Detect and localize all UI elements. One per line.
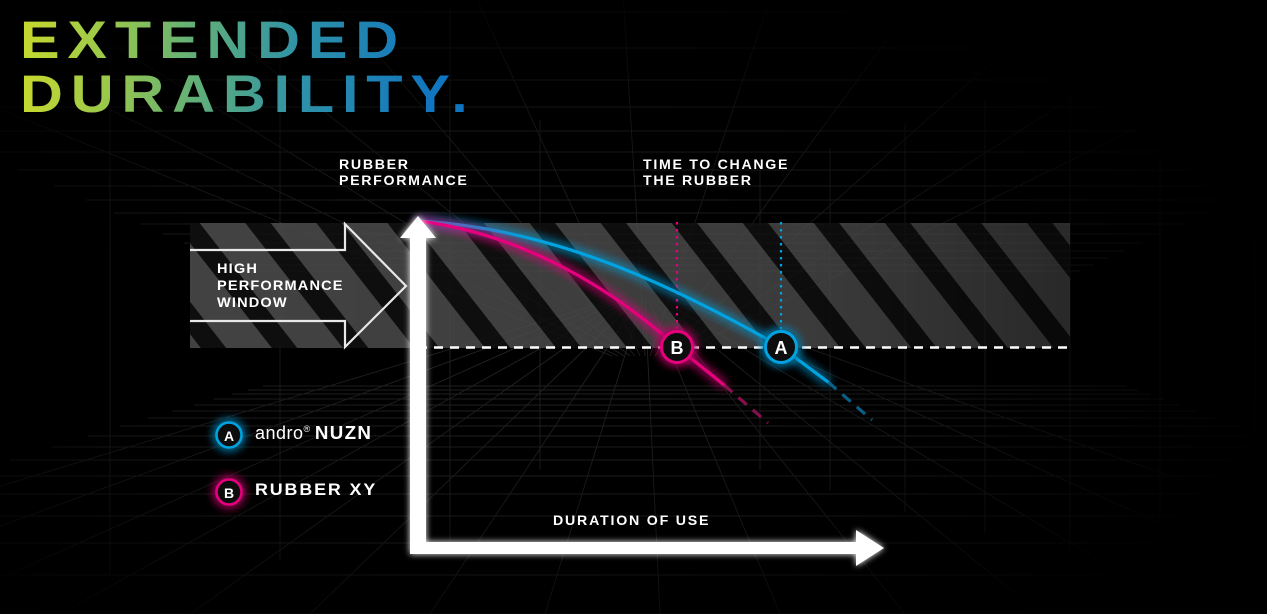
title-line-2: DURABILITY. (20, 68, 804, 122)
marker-a-letter: A (775, 338, 788, 358)
high-performance-window-label: HIGH PERFORMANCE WINDOW (217, 260, 344, 311)
legend-brand-a: andro (255, 423, 304, 443)
series-rubber-xy-fade (724, 385, 768, 423)
x-axis-label: DURATION OF USE (553, 513, 710, 528)
legend: andro® NUZN RUBBER XY (214, 420, 534, 534)
marker-a (766, 332, 797, 363)
series-rubber-xy (418, 221, 724, 385)
legend-item-b: RUBBER XY (214, 477, 534, 507)
grid-right-wall (760, 16, 1255, 602)
legend-model-a: NUZN (315, 423, 372, 444)
y-axis-label: RUBBER PERFORMANCE (339, 157, 469, 189)
marker-b (662, 332, 693, 363)
legend-item-a: andro® NUZN (214, 420, 534, 450)
title-line-1: EXTENDED (20, 14, 804, 68)
page-title: EXTENDED DURABILITY. (20, 14, 720, 134)
threshold-label: TIME TO CHANGE THE RUBBER (643, 157, 789, 189)
series-andro-nuzn-fade (828, 382, 872, 420)
infographic-canvas: EXTENDED DURABILITY. (0, 0, 1267, 614)
legend-model-b: RUBBER XY (255, 480, 377, 499)
legend-label-b: RUBBER XY (255, 480, 377, 500)
x-axis (410, 530, 884, 566)
registered-mark-icon: ® (304, 424, 311, 434)
series-andro-nuzn (418, 221, 828, 382)
grid-floor (0, 300, 1267, 614)
marker-b-letter: B (671, 338, 684, 358)
legend-label-a: andro® NUZN (255, 423, 371, 444)
